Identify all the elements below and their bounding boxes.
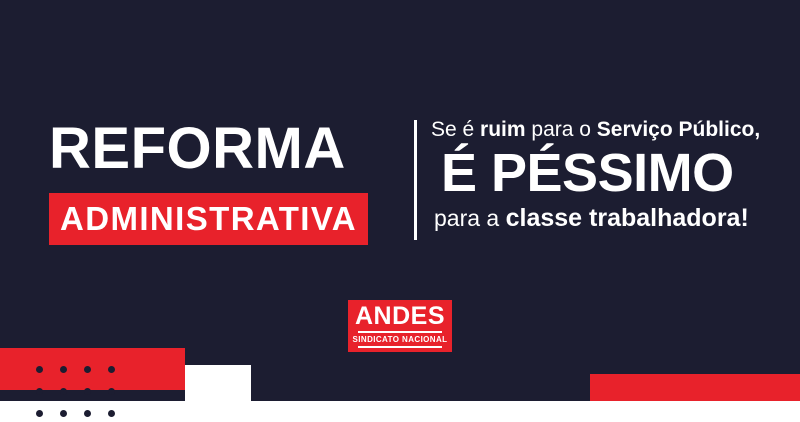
headline-right-line-1-part-2: para o — [526, 118, 597, 141]
headline-right-line-3-emphasis-1: classe trabalhadora! — [506, 204, 749, 232]
vertical-divider — [414, 120, 417, 240]
headline-right-line-2: É PÉSSIMO — [441, 145, 791, 201]
headline-right-line-1-emphasis-1: ruim — [480, 118, 526, 141]
dot — [60, 388, 67, 395]
dot — [60, 410, 67, 417]
dot — [108, 366, 115, 373]
campaign-banner: REFORMA ADMINISTRATIVA Se é ruim para o … — [0, 0, 800, 422]
dot — [108, 388, 115, 395]
dot — [84, 366, 91, 373]
headline-right-line-1-emphasis-2: Serviço Público, — [597, 118, 760, 141]
andes-logo: ANDES SINDICATO NACIONAL — [348, 300, 452, 352]
decoration-dot-grid — [36, 358, 132, 422]
decoration-red-bar-right — [590, 374, 800, 401]
headline-left: REFORMA ADMINISTRATIVA — [49, 118, 399, 245]
headline-right-line-3-part-1: para a — [434, 205, 506, 231]
headline-left-primary: REFORMA — [49, 118, 399, 180]
dot — [108, 410, 115, 417]
headline-right: Se é ruim para o Serviço Público, É PÉSS… — [431, 117, 791, 232]
headline-right-line-1-part-1: Se é — [431, 118, 480, 141]
andes-logo-rule-bottom — [358, 346, 442, 348]
dot — [60, 366, 67, 373]
andes-logo-name: ANDES — [355, 304, 445, 329]
headline-right-line-1: Se é ruim para o Serviço Público, — [431, 117, 791, 143]
andes-logo-subtitle: SINDICATO NACIONAL — [353, 335, 448, 344]
headline-right-line-3: para a classe trabalhadora! — [434, 204, 791, 232]
dot — [36, 410, 43, 417]
dot — [84, 388, 91, 395]
headline-left-highlight-band: ADMINISTRATIVA — [49, 193, 368, 245]
dot — [36, 388, 43, 395]
dot — [84, 410, 91, 417]
andes-logo-rule-top — [358, 331, 442, 333]
headline-left-secondary: ADMINISTRATIVA — [60, 202, 357, 235]
dot — [36, 366, 43, 373]
